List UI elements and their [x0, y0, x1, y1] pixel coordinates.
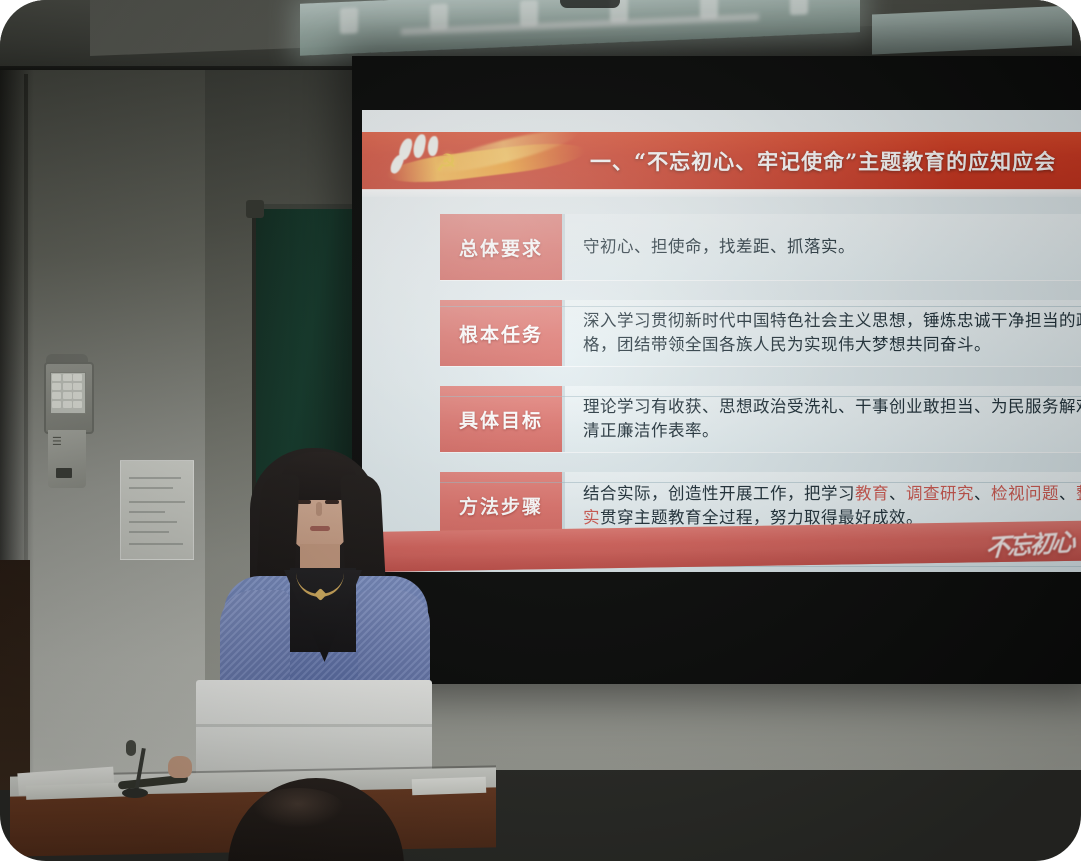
row-label-fundamental-task: 根本任务	[440, 300, 562, 366]
method-sep-1: 、	[889, 484, 906, 503]
row-text-fundamental-task: 深入学习贯彻新时代中国特色社会主义思想，锤炼忠诚干净担当的政治品格，团结带领全国…	[562, 300, 1081, 366]
intercom-marking-icon: ☰	[52, 436, 64, 448]
row-label-overall-requirement: 总体要求	[440, 214, 562, 280]
hammer-and-sickle-icon: ☭	[432, 152, 460, 178]
presenter-hand	[168, 756, 192, 778]
audience-hair-highlight	[252, 788, 344, 828]
slide-content-rows: 总体要求 守初心、担使命，找差距、抓落实。 根本任务 深入学习贯彻新时代中国特色…	[440, 214, 1081, 558]
presenter-mouth	[310, 526, 330, 531]
desk-paper-right	[412, 777, 487, 796]
row-text-overall-requirement: 守初心、担使命，找差距、抓落实。	[562, 214, 1081, 280]
slide-footer-calligraphy: 不忘初心	[985, 522, 1075, 563]
method-text-part-1: 结合实际，创造性开展工作，把学习	[583, 484, 855, 503]
slide-header-band: ☭ 一、“不忘初心、牢记使命”主题教育的应知应会	[362, 132, 1081, 190]
method-highlight-1: 教育	[855, 484, 889, 503]
method-sep-2: 、	[974, 484, 991, 503]
method-sep-3: 、	[1059, 484, 1076, 503]
microphone-head	[126, 740, 136, 756]
ceiling-vent	[560, 0, 620, 8]
photo-frame: ☰ ☭ 一、“不忘初心、牢记使命”主题教育的应知应会	[0, 0, 1081, 861]
slide-row: 总体要求 守初心、担使命，找差距、抓落实。	[440, 214, 1081, 280]
method-highlight-3: 检视问题	[991, 484, 1059, 503]
door-frame	[0, 560, 30, 790]
slide-header-emblem-group: ☭	[370, 132, 590, 190]
presentation-slide: ☭ 一、“不忘初心、牢记使命”主题教育的应知应会 总体要求 守初心、担使命，找差…	[362, 110, 1081, 572]
wall-notice-sheet	[120, 460, 194, 560]
slide-title: 一、“不忘初心、牢记使命”主题教育的应知应会	[590, 132, 1081, 190]
presenter-nose	[316, 502, 322, 516]
microphone-base	[122, 788, 148, 798]
presenter	[200, 440, 450, 710]
chalkboard-bracket	[246, 200, 264, 218]
dove-icon	[412, 133, 427, 159]
slide-row: 根本任务 深入学习贯彻新时代中国特色社会主义思想，锤炼忠诚干净担当的政治品格，团…	[440, 300, 1081, 366]
keypad-icon	[52, 374, 82, 408]
intercom-label-plate	[56, 468, 72, 478]
method-highlight-2: 调查研究	[906, 484, 974, 503]
podium-panel	[196, 680, 432, 780]
